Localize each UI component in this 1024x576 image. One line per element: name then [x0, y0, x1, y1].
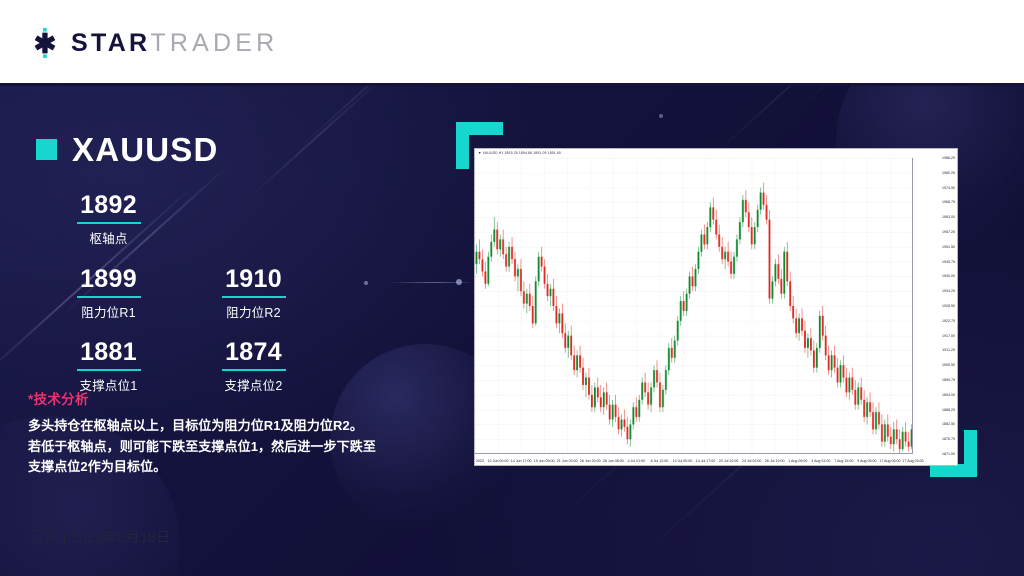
price-tick-label: 1974.50 — [942, 186, 955, 190]
corner-bracket-top-left — [456, 122, 469, 169]
time-axis: 1 Jun 202312 Jun 00:0014 Jun 17:0019 Jun… — [475, 453, 913, 465]
price-tick-label: 1945.75 — [942, 260, 955, 264]
time-tick-label: 4 Jul 01:00 — [628, 459, 646, 463]
pivot-levels: 1892 枢轴点 1899 阻力位R1 1910 阻力位R2 — [36, 192, 366, 394]
analysis-line-3: 支撑点位2作为目标位。 — [28, 457, 418, 478]
candlestick-canvas — [475, 158, 913, 454]
promo-card: STAR TRADER XAUUSD — [0, 0, 1024, 576]
level-s2-value: 1874 — [181, 339, 326, 366]
decor-line — [388, 282, 474, 283]
symbol-title: XAUUSD — [36, 133, 219, 166]
level-r2-value: 1910 — [181, 266, 326, 293]
analysis-line-2: 若低于枢轴点，则可能下跌至支撑点位1，然后进一步下跌至 — [28, 437, 418, 458]
brand-wordmark: STAR TRADER — [71, 29, 278, 58]
time-tick-label: 7 Aug 15:00 — [834, 459, 853, 463]
brand-name-bold: STAR — [71, 29, 150, 58]
level-s1-value: 1881 — [36, 339, 181, 366]
page-title: XAUUSD — [72, 133, 219, 166]
time-tick-label: 24 Jul 02:00 — [742, 459, 762, 463]
analysis-body: 多头持仓在枢轴点以上，目标位为阻力位R1及阻力位R2。 若低于枢轴点，则可能下跌… — [28, 416, 418, 478]
price-tick-label: 1894.00 — [942, 393, 955, 397]
level-underline — [77, 296, 141, 298]
header-bar: STAR TRADER — [0, 0, 1024, 84]
content-board: XAUUSD 1892 枢轴点 1899 阻力位R1 1910 — [0, 86, 1024, 576]
level-spacer — [181, 192, 326, 247]
price-tick-label: 1957.25 — [942, 230, 955, 234]
time-tick-label: 12 Jul 00:00 — [673, 459, 693, 463]
price-tick-label: 1876.75 — [942, 437, 955, 441]
price-tick-label: 1888.25 — [942, 408, 955, 412]
title-accent-square — [36, 139, 57, 160]
price-chart[interactable]: ▼ XAUUSD,H1 1893.25 1894.86 1891.09 1891… — [474, 148, 958, 466]
level-underline — [77, 369, 141, 371]
level-underline — [222, 296, 286, 298]
footer-caption: 汇评 | 2023年8月18日 — [30, 527, 170, 547]
time-tick-label: 26 Jun 20:00 — [580, 459, 601, 463]
time-tick-label: 17 Aug 03:00 — [902, 459, 923, 463]
level-r1: 1899 阻力位R1 — [36, 266, 181, 321]
levels-row-pivot: 1892 枢轴点 — [36, 192, 366, 247]
price-tick-label: 1928.50 — [942, 304, 955, 308]
analysis-heading-text: 技术分析 — [34, 392, 89, 407]
price-tick-label: 1922.75 — [942, 319, 955, 323]
price-tick-label: 1911.25 — [942, 348, 955, 352]
corner-bracket-bottom-right — [964, 430, 977, 477]
chart-title-text: XAUUSD,H1 1893.25 1894.86 1891.09 1891.6… — [483, 151, 561, 155]
price-tick-label: 1968.75 — [942, 200, 955, 204]
level-pivot-value: 1892 — [36, 192, 181, 219]
time-tick-label: 1 Jun 2023 — [474, 459, 484, 463]
time-tick-label: 9 Aug 05:00 — [857, 459, 876, 463]
price-tick-label: 1951.50 — [942, 245, 955, 249]
time-tick-label: 21 Jun 03:00 — [557, 459, 578, 463]
levels-row-support: 1881 支撑点位1 1874 支撑点位2 — [36, 339, 366, 394]
time-tick-label: 28 Jun 08:00 — [603, 459, 624, 463]
price-tick-label: 1934.25 — [942, 289, 955, 293]
price-tick-label: 1940.00 — [942, 274, 955, 278]
price-tick-label: 1905.50 — [942, 363, 955, 367]
chart-title: ▼ XAUUSD,H1 1893.25 1894.86 1891.09 1891… — [478, 151, 561, 155]
level-pivot: 1892 枢轴点 — [36, 192, 181, 247]
time-tick-label: 12 Jun 00:00 — [488, 459, 509, 463]
time-tick-label: 26 Jul 19:00 — [765, 459, 785, 463]
price-tick-label: 1980.25 — [942, 171, 955, 175]
time-tick-label: 14 Jun 17:00 — [511, 459, 532, 463]
level-r2-label: 阻力位R2 — [181, 302, 326, 321]
price-tick-label: 1871.00 — [942, 452, 955, 456]
levels-row-resistance: 1899 阻力位R1 1910 阻力位R2 — [36, 266, 366, 321]
analysis-heading: *技术分析 — [28, 388, 418, 408]
time-tick-label: 19 Jun 09:00 — [534, 459, 555, 463]
technical-analysis: *技术分析 多头持仓在枢轴点以上，目标位为阻力位R1及阻力位R2。 若低于枢轴点… — [28, 388, 418, 478]
decor-dot — [659, 114, 663, 118]
price-tick-label: 1963.00 — [942, 215, 955, 219]
price-axis: 1986.251980.251974.501968.751963.001957.… — [912, 158, 957, 454]
time-tick-label: 14 Jul 17:00 — [696, 459, 716, 463]
level-r2: 1910 阻力位R2 — [181, 266, 326, 321]
time-tick-label: 6 Jul 12:00 — [651, 459, 669, 463]
asterisk-logo-icon — [30, 28, 60, 58]
level-r1-value: 1899 — [36, 266, 181, 293]
brand-name-light: TRADER — [150, 29, 278, 58]
analysis-line-1: 多头持仓在枢轴点以上，目标位为阻力位R1及阻力位R2。 — [28, 416, 418, 437]
level-r1-label: 阻力位R1 — [36, 302, 181, 321]
level-underline — [77, 222, 141, 224]
level-pivot-label: 枢轴点 — [36, 228, 181, 247]
time-tick-label: 20 Jul 10:00 — [719, 459, 739, 463]
price-tick-label: 1917.00 — [942, 334, 955, 338]
brand-logo: STAR TRADER — [30, 28, 278, 58]
level-s1: 1881 支撑点位1 — [36, 339, 181, 394]
chart-plot-area — [475, 158, 913, 454]
level-s2: 1874 支撑点位2 — [181, 339, 326, 394]
price-tick-label: 1899.75 — [942, 378, 955, 382]
time-tick-label: 1 Aug 09:00 — [788, 459, 807, 463]
time-tick-label: 17 Aug 06:00 — [879, 459, 900, 463]
price-tick-label: 1986.25 — [942, 156, 955, 160]
time-tick-label: 3 Aug 01:00 — [811, 459, 830, 463]
price-tick-label: 1882.50 — [942, 422, 955, 426]
level-underline — [222, 369, 286, 371]
